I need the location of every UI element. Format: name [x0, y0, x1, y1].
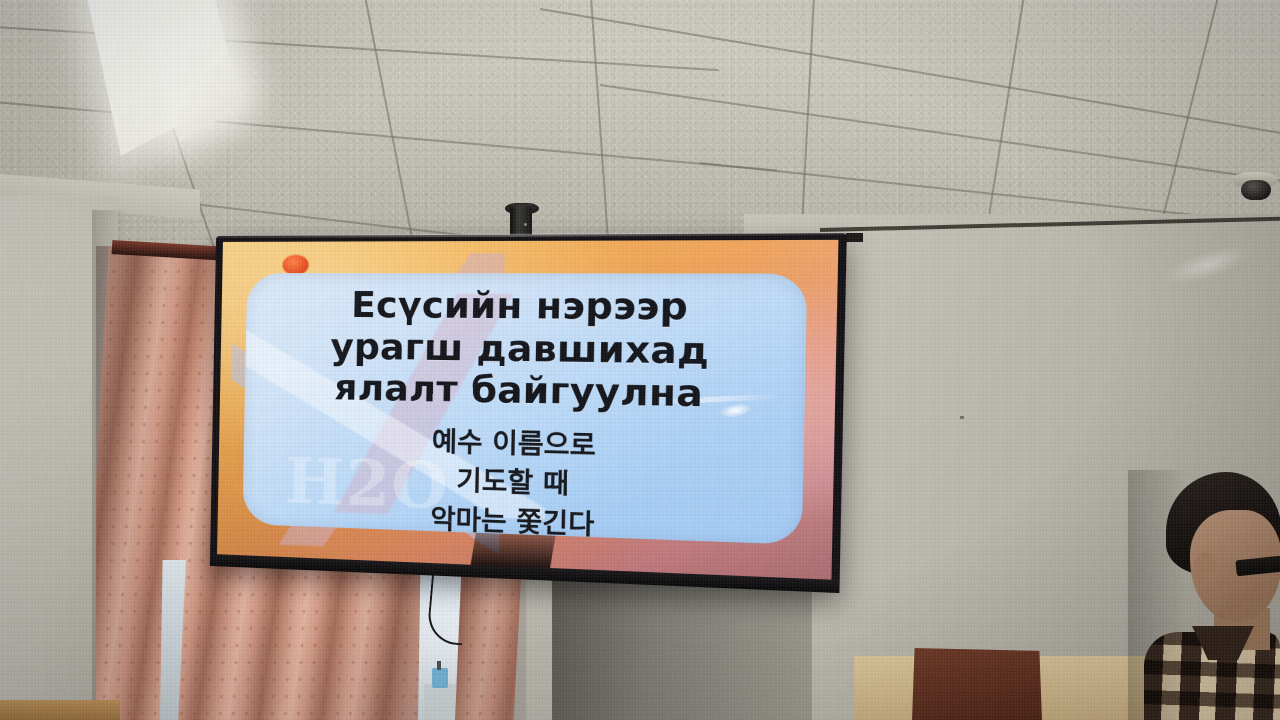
person-ear	[1194, 552, 1216, 582]
mongolian-line-1: Есүсийн нэрээр	[246, 285, 806, 331]
wall-mark	[960, 416, 964, 419]
mongolian-line-2: урагш давшихад	[246, 326, 806, 375]
tv-screen[interactable]: H2O H2O Есүсийн нэрээр урагш давшихад ял…	[217, 240, 838, 580]
rooftop-water-tank	[432, 668, 448, 688]
rooftop-antenna	[437, 661, 441, 670]
korean-text-block: 예수 이름으로 기도할 때 악마는 쫓긴다	[243, 420, 804, 545]
photo-scene: H2O H2O Есүсийн нэрээр урагш давшихад ял…	[0, 0, 1280, 720]
wooden-floor-edge	[0, 700, 120, 720]
dark-wood-panel	[912, 648, 1042, 720]
mount-screw	[524, 223, 527, 226]
mongolian-text-block: Есүсийн нэрээр урагш давшихад ялалт байг…	[245, 285, 807, 419]
wall-smudge	[1160, 239, 1254, 292]
tv-bezel: H2O H2O Есүсийн нэрээр урагш давшихад ял…	[210, 233, 847, 593]
slide-text-panel: H2O Есүсийн нэрээр урагш давшихад ялалт …	[243, 273, 808, 544]
dome-camera-lens	[1241, 180, 1271, 200]
wall-mounted-television[interactable]: H2O H2O Есүсийн нэрээр урагш давшихад ял…	[210, 233, 847, 593]
wall-mounted-box	[846, 233, 863, 242]
seated-person	[1128, 470, 1280, 720]
